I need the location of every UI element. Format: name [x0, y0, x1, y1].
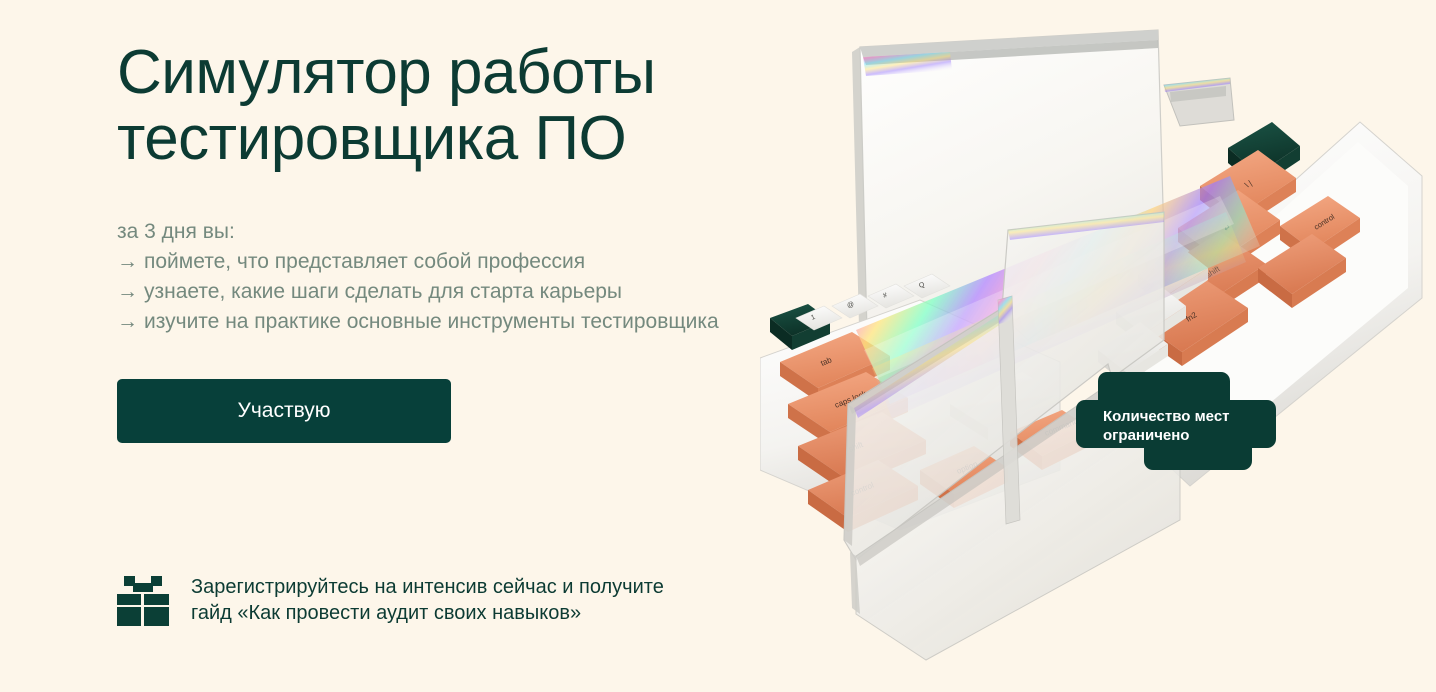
arrow-right-icon: → — [117, 310, 138, 333]
benefit-item-2-label: узнаете, какие шаги сделать для старта к… — [144, 280, 622, 303]
arrow-right-icon: → — [117, 250, 138, 273]
register-note-text: Зарегистрируйтесь на интенсив сейчас и п… — [191, 573, 664, 626]
benefit-item-1-label: поймете, что представляет собой професси… — [144, 250, 585, 273]
benefit-item-2: →узнаете, какие шаги сделать для старта … — [117, 277, 817, 307]
gift-icon — [117, 576, 169, 626]
register-note: Зарегистрируйтесь на интенсив сейчас и п… — [117, 573, 664, 626]
benefit-item-3-label: изучите на практике основные инструменты… — [144, 310, 719, 333]
page-title: Симулятор работы тестировщика ПО — [117, 40, 817, 171]
benefit-item-3: →изучите на практике основные инструмент… — [117, 307, 817, 337]
product-hero-image: \ | ↵ shift fn2 — [760, 0, 1436, 692]
landing-page: \ | ↵ shift fn2 — [0, 0, 1436, 692]
hero-content: Симулятор работы тестировщика ПО за 3 дн… — [117, 40, 817, 443]
benefits-list: за 3 дня вы: →поймете, что представляет … — [117, 217, 817, 337]
participate-button[interactable]: Участвую — [117, 379, 451, 443]
arrow-right-icon: → — [117, 280, 138, 303]
benefits-lead: за 3 дня вы: — [117, 217, 817, 247]
badge-label: Количество мест ограничено — [1103, 407, 1230, 445]
glass-panel-bracket — [1164, 78, 1234, 126]
benefit-item-1: →поймете, что представляет собой професс… — [117, 247, 817, 277]
limited-seats-badge: Количество мест ограничено — [1076, 372, 1276, 470]
